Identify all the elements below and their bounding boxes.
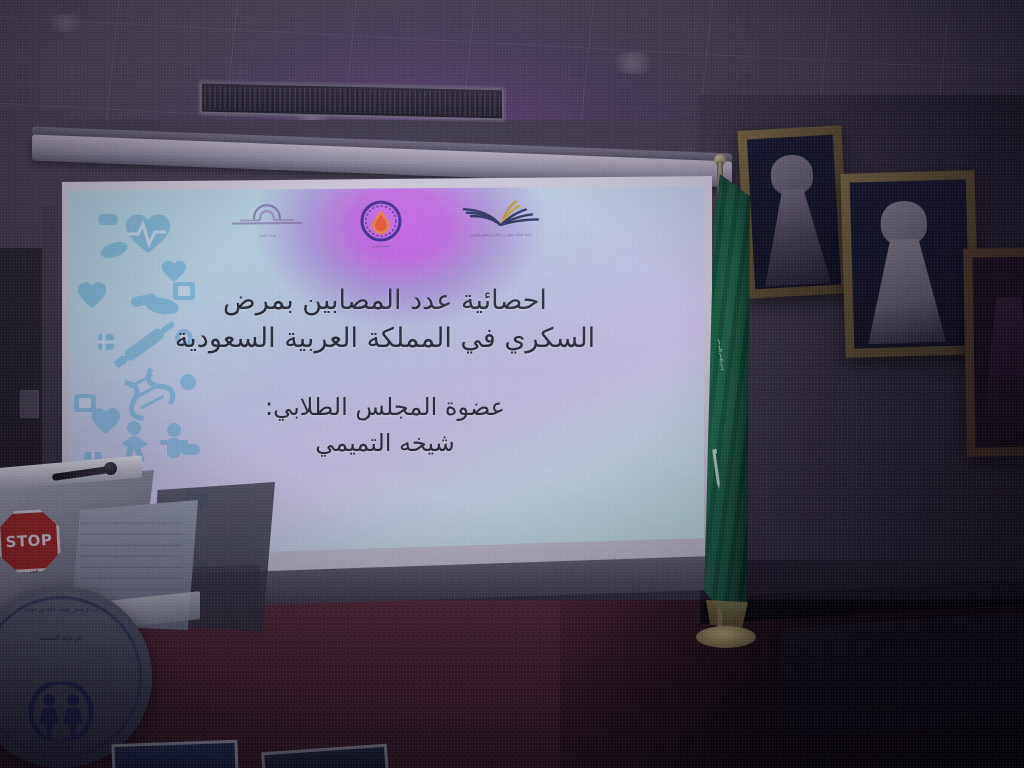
portrait-shade — [850, 179, 971, 348]
flag-stand-base — [696, 626, 756, 648]
display-board-left — [111, 740, 238, 768]
child-care-emblem: مركز سفر ضيف الله بن سعيد للرعاية الصحية… — [0, 586, 152, 768]
light-switch[interactable] — [20, 390, 39, 418]
bench-platform — [780, 611, 1024, 738]
royal-portrait-right — [963, 247, 1024, 457]
flag-fringe — [706, 600, 748, 628]
flag-folds — [698, 174, 750, 622]
microphone-head — [104, 462, 117, 475]
ceiling-light-3 — [46, 14, 86, 32]
lecture-hall-photo: وزارة الصحة جمعية السكري — [0, 0, 1024, 768]
portrait-canvas — [850, 179, 971, 348]
flag-cloth — [698, 174, 750, 622]
portrait-shade — [972, 256, 1024, 447]
portrait-canvas — [972, 256, 1024, 447]
vent-louvers — [204, 86, 500, 117]
emblem-shading — [0, 586, 152, 768]
royal-portrait-center — [840, 170, 979, 358]
ceiling-light-2 — [610, 52, 656, 74]
saudi-flag — [690, 160, 762, 670]
stop-sign-label: STOP — [5, 531, 53, 551]
